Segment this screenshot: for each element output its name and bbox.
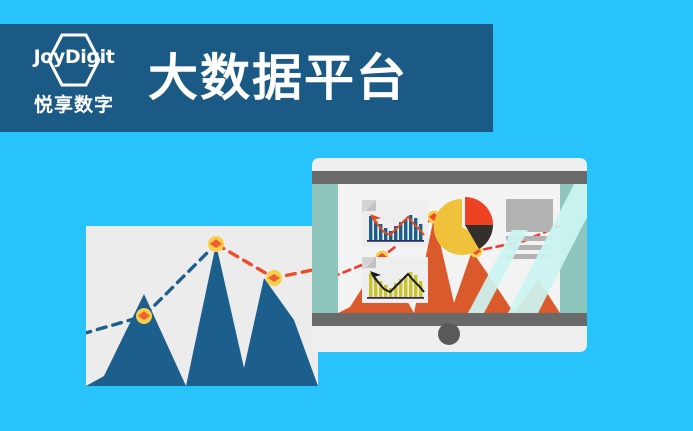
trend-line-right xyxy=(216,244,318,278)
mountain-area-shape xyxy=(86,244,318,386)
blue-mountain-chart xyxy=(86,226,318,386)
document-text-line xyxy=(506,254,553,259)
olive-bar-chart xyxy=(362,257,428,303)
pie-chart[interactable] xyxy=(433,196,495,258)
pie-slice-b xyxy=(465,197,493,225)
blue-bar-chart-card[interactable] xyxy=(362,200,428,246)
axis-line xyxy=(367,297,424,299)
power-button[interactable] xyxy=(438,323,460,345)
left-background-chart-panel xyxy=(86,226,318,386)
pie-chart-svg xyxy=(433,196,495,258)
dashboard-surface xyxy=(338,184,560,313)
document-image-placeholder xyxy=(506,199,553,232)
document-text-line xyxy=(506,245,553,250)
page-title: 大数据平台 xyxy=(148,53,408,103)
header-banner: JoyDigit 悦享数字 大数据平台 xyxy=(0,24,493,132)
monitor-display xyxy=(312,158,587,352)
blue-bar-chart xyxy=(362,200,428,246)
brand-logo: JoyDigit 悦享数字 xyxy=(14,28,134,128)
screen-content xyxy=(312,184,587,313)
brand-wordmark: JoyDigit xyxy=(14,46,134,68)
document-text-line xyxy=(506,236,553,241)
axis-line xyxy=(367,240,424,242)
monitor-top-bezel xyxy=(312,171,587,184)
brand-subtitle: 悦享数字 xyxy=(14,90,134,117)
poster-canvas: JoyDigit 悦享数字 大数据平台 xyxy=(0,0,693,431)
olive-bar-chart-card[interactable] xyxy=(362,257,428,303)
